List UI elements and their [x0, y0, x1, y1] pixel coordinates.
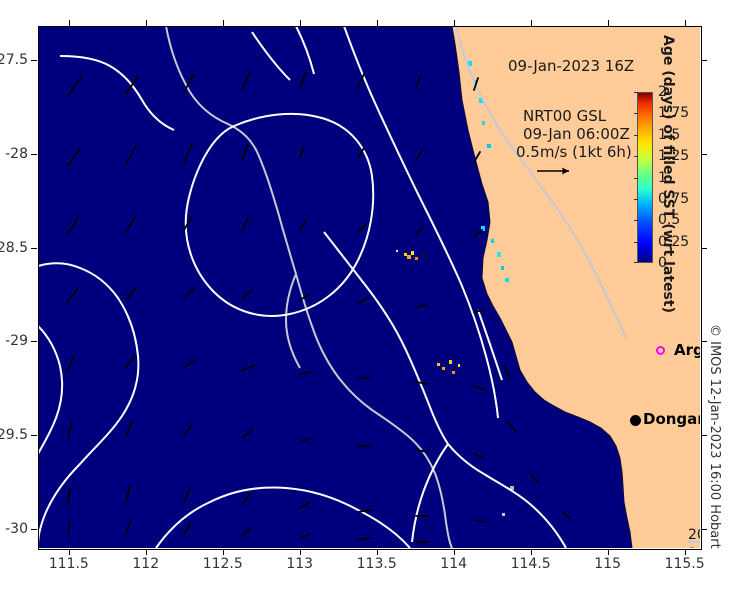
x-tick-mark-top [685, 20, 686, 26]
y-tick-mark-right [701, 529, 707, 530]
x-tick-label: 111.5 [49, 556, 89, 572]
x-tick-label: 112 [132, 556, 159, 572]
x-tick-mark-top [531, 20, 532, 26]
x-tick-mark [608, 549, 609, 555]
x-tick-mark [685, 549, 686, 555]
colorbar: 21.751.51.2510.750.50.250 [637, 92, 653, 263]
x-tick-mark-top [300, 20, 301, 26]
colorbar-tick-mark [634, 262, 638, 263]
colorbar-tick-mark [634, 178, 638, 179]
vector-source-label: NRT00 GSL [523, 107, 606, 125]
y-tick-label: -29.5 [0, 427, 28, 443]
open-circle-marker-icon [656, 346, 665, 355]
x-tick-label: 114.5 [511, 556, 551, 572]
y-tick-mark [31, 154, 37, 155]
y-tick-mark [31, 341, 37, 342]
x-tick-mark [223, 549, 224, 555]
ocean-region [38, 26, 632, 548]
filled-circle-marker-icon [630, 415, 641, 426]
colorbar-gradient [637, 92, 653, 263]
y-tick-mark-right [701, 248, 707, 249]
y-tick-mark [31, 60, 37, 61]
x-tick-mark [454, 549, 455, 555]
x-tick-mark-top [454, 20, 455, 26]
y-tick-label: -30 [0, 521, 28, 537]
colorbar-tick-mark [634, 199, 638, 200]
x-tick-mark [146, 549, 147, 555]
y-tick-mark-right [701, 154, 707, 155]
depth-key-label-1000m: 1000m [688, 546, 700, 548]
argo-legend-label: Argo [674, 341, 700, 359]
vector-scale-label: 0.5m/s (1kt 6h) [516, 143, 632, 161]
y-tick-mark-right [701, 60, 707, 61]
x-tick-label: 113 [286, 556, 313, 572]
map-plot-area[interactable]: 09-Jan-2023 16Z NRT00 GSL 09-Jan 06:00Z … [38, 26, 700, 548]
ocean-current-map-figure: 09-Jan-2023 16Z NRT00 GSL 09-Jan 06:00Z … [0, 0, 740, 592]
map-title-date: 09-Jan-2023 16Z [508, 57, 634, 75]
x-tick-label: 115.5 [665, 556, 705, 572]
x-tick-mark [531, 549, 532, 555]
credit-text: © IMOS 12-Jan-2023 16:00 Hobart [707, 324, 722, 549]
map-canvas [38, 26, 700, 548]
place-label-dongara: Dongara [643, 410, 700, 428]
depth-key-row-200m: 200m [688, 524, 700, 543]
colorbar-tick-mark [634, 242, 638, 243]
colorbar-tick-mark [634, 220, 638, 221]
y-tick-label: -29 [0, 333, 28, 349]
x-tick-mark [69, 549, 70, 555]
x-tick-mark [377, 549, 378, 555]
x-tick-label: 115 [594, 556, 621, 572]
y-tick-mark-right [701, 435, 707, 436]
colorbar-tick-mark [634, 92, 638, 93]
y-tick-label: -28.5 [0, 240, 28, 256]
y-tick-label: -27.5 [0, 52, 28, 68]
x-tick-mark-top [69, 20, 70, 26]
vector-time-label: 09-Jan 06:00Z [523, 125, 630, 143]
x-tick-mark [300, 549, 301, 555]
colorbar-tick-mark [634, 113, 638, 114]
colorbar-tick-mark [634, 156, 638, 157]
depth-key-row-1000m: 1000m [688, 543, 700, 548]
colorbar-axis-title: Age (days) of filled SST (wrt latest) [660, 35, 676, 313]
x-tick-mark-top [608, 20, 609, 26]
y-tick-label: -28 [0, 146, 28, 162]
right-arrow-icon [536, 162, 576, 174]
x-tick-mark-top [377, 20, 378, 26]
argo-legend: Argo [656, 341, 700, 359]
x-tick-mark-top [146, 20, 147, 26]
y-tick-mark [31, 529, 37, 530]
x-tick-label: 113.5 [357, 556, 397, 572]
bathymetry-depth-key: 200m 1000m [688, 524, 700, 548]
y-tick-mark-right [701, 341, 707, 342]
x-tick-label: 114 [440, 556, 467, 572]
x-tick-label: 112.5 [203, 556, 243, 572]
y-tick-mark [31, 435, 37, 436]
x-tick-mark-top [223, 20, 224, 26]
y-tick-mark [31, 248, 37, 249]
colorbar-tick-mark [634, 135, 638, 136]
